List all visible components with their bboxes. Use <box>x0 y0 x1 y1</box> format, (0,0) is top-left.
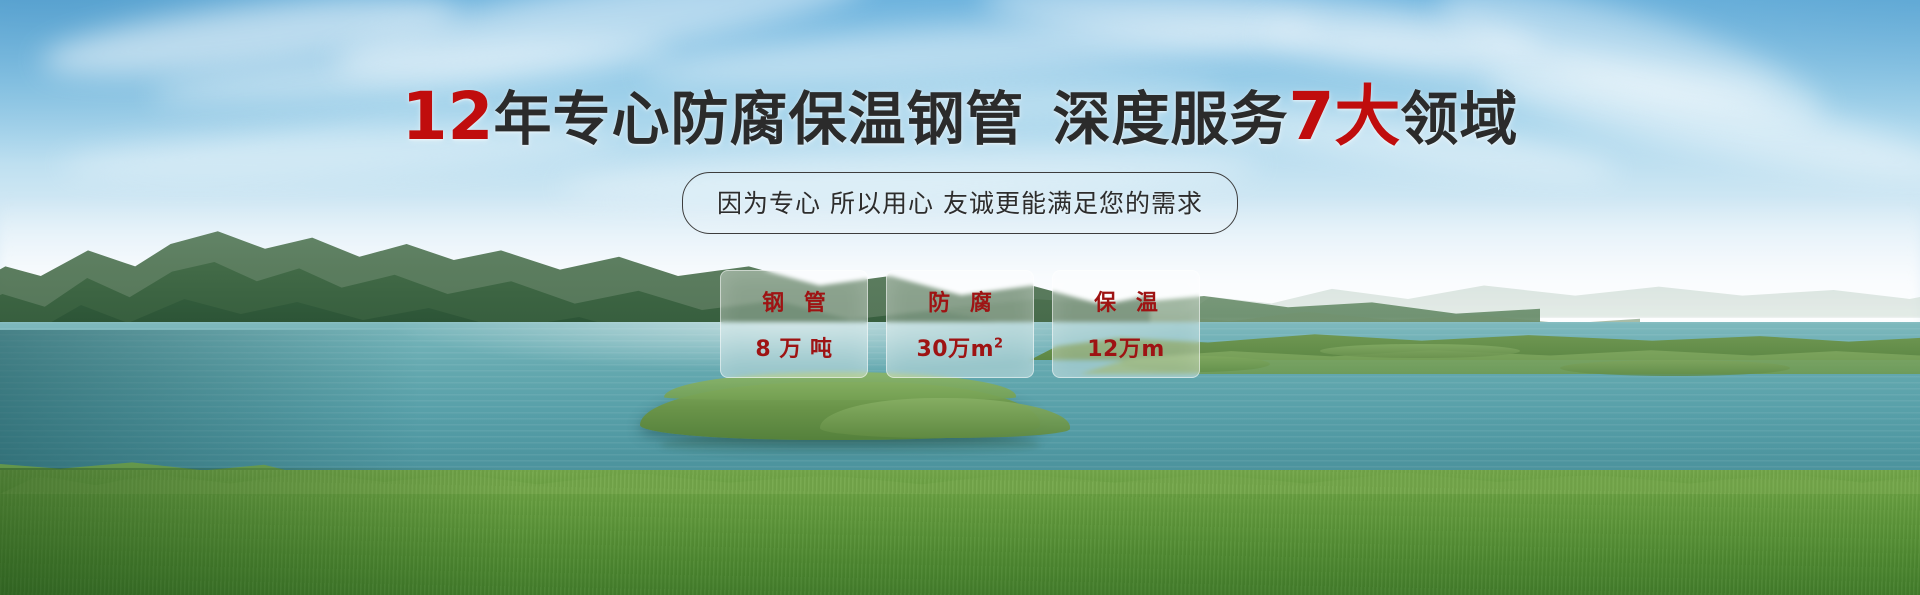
stat-value: 8 万 吨 <box>755 331 832 363</box>
stat-card-insulation[interactable]: 保 温 12万m <box>1052 270 1200 378</box>
stat-card-group: 钢 管 8 万 吨 防 腐 30万m2 保 温 12万m <box>720 270 1200 378</box>
stat-card-anticorrosion[interactable]: 防 腐 30万m2 <box>886 270 1034 378</box>
stat-value: 30万m2 <box>916 331 1003 363</box>
banner-headline: 12年专心防腐保温钢管深度服务7大领域 <box>402 84 1519 150</box>
stat-label: 防 腐 <box>922 285 998 317</box>
stat-value-superscript: 2 <box>994 337 1004 352</box>
stat-value: 12万m <box>1087 331 1165 363</box>
stat-label: 钢 管 <box>756 285 832 317</box>
stat-value-main: 8 万 吨 <box>755 337 832 362</box>
banner-content: 12年专心防腐保温钢管深度服务7大领域 因为专心 所以用心 友诚更能满足您的需求… <box>0 0 1920 595</box>
hero-banner: 12年专心防腐保温钢管深度服务7大领域 因为专心 所以用心 友诚更能满足您的需求… <box>0 0 1920 595</box>
headline-main-text: 年专心防腐保温钢管 <box>493 85 1024 153</box>
stat-value-main: 30万m <box>916 337 994 362</box>
headline-years-number: 12 <box>402 78 494 155</box>
stat-card-steel-pipe[interactable]: 钢 管 8 万 吨 <box>720 270 868 378</box>
headline-fields-number: 7大 <box>1288 78 1400 155</box>
stat-label: 保 温 <box>1088 285 1164 317</box>
stat-value-main: 12万m <box>1087 337 1165 362</box>
headline-fields-text: 领域 <box>1400 85 1518 153</box>
banner-subtitle-pill: 因为专心 所以用心 友诚更能满足您的需求 <box>682 172 1238 234</box>
headline-service-text: 深度服务 <box>1052 85 1288 153</box>
